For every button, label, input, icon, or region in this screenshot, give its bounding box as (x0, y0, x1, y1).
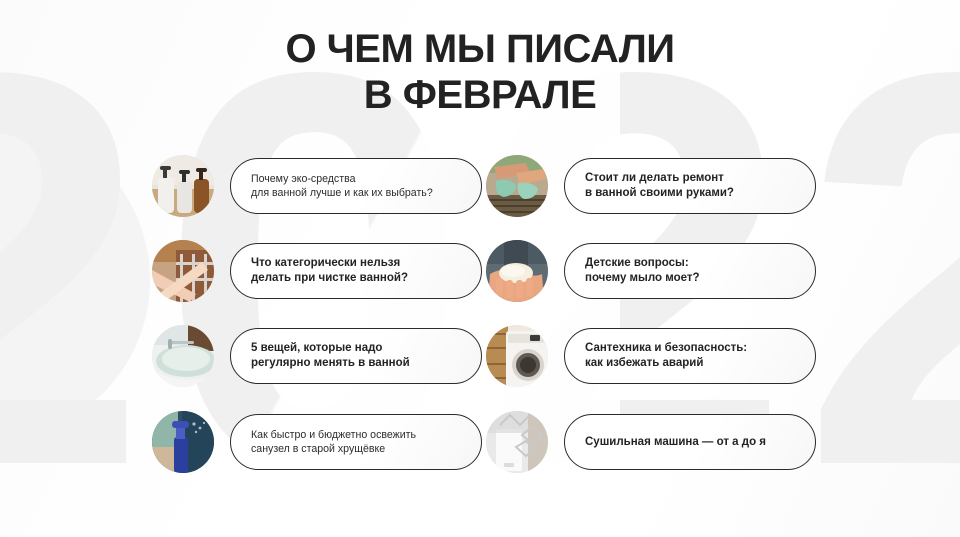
title-line-2: В ФЕВРАЛЕ (0, 72, 960, 118)
list-item[interactable]: Сантехника и безопасность: как избежать … (486, 313, 816, 398)
list-item[interactable]: Что категорически нельзя делать при чист… (152, 228, 482, 313)
topic-pill[interactable]: Как быстро и бюджетно освежить санузел в… (230, 414, 482, 470)
green-gloves-photo (486, 155, 548, 217)
list-item[interactable]: Почему эко-средства для ванной лучше и к… (152, 143, 482, 228)
topic-label: Что категорически нельзя делать при чист… (251, 256, 408, 286)
spray-bottle-photo (152, 411, 214, 473)
title-line-1: О ЧЕМ МЫ ПИСАЛИ (0, 26, 960, 72)
topic-label: Сантехника и безопасность: как избежать … (585, 341, 747, 371)
topic-pill[interactable]: Сантехника и безопасность: как избежать … (564, 328, 816, 384)
topic-column-left: Почему эко-средства для ванной лучше и к… (152, 143, 482, 503)
poster-canvas: 2022 О ЧЕМ МЫ ПИСАЛИ В ФЕВРАЛЕ (0, 0, 960, 537)
topic-pill[interactable]: Детские вопросы: почему мыло моет? (564, 243, 816, 299)
topic-pill[interactable]: Стоит ли делать ремонт в ванной своими р… (564, 158, 816, 214)
list-item[interactable]: Стоит ли делать ремонт в ванной своими р… (486, 143, 816, 228)
drying-rack-photo (486, 411, 548, 473)
topic-label: Сушильная машина — от а до я (585, 435, 766, 450)
topic-label: Стоит ли делать ремонт в ванной своими р… (585, 171, 734, 201)
bathtub-sink-photo (152, 325, 214, 387)
topic-label: Как быстро и бюджетно освежить санузел в… (251, 428, 416, 456)
washing-machine-photo (486, 325, 548, 387)
topic-label: 5 вещей, которые надо регулярно менять в… (251, 341, 410, 371)
topic-pill[interactable]: Что категорически нельзя делать при чист… (230, 243, 482, 299)
topic-pill[interactable]: Сушильная машина — от а до я (564, 414, 816, 470)
topic-pill[interactable]: 5 вещей, которые надо регулярно менять в… (230, 328, 482, 384)
hands-crossed-photo (152, 240, 214, 302)
topic-column-right: Стоит ли делать ремонт в ванной своими р… (486, 143, 816, 503)
topic-label: Почему эко-средства для ванной лучше и к… (251, 172, 433, 200)
topic-pill[interactable]: Почему эко-средства для ванной лучше и к… (230, 158, 482, 214)
page-title: О ЧЕМ МЫ ПИСАЛИ В ФЕВРАЛЕ (0, 26, 960, 118)
list-item[interactable]: Как быстро и бюджетно освежить санузел в… (152, 398, 482, 486)
soap-dispensers-photo (152, 155, 214, 217)
topic-columns: Почему эко-средства для ванной лучше и к… (0, 143, 960, 503)
topic-label: Детские вопросы: почему мыло моет? (585, 256, 700, 286)
list-item[interactable]: Сушильная машина — от а до я (486, 398, 816, 486)
list-item[interactable]: 5 вещей, которые надо регулярно менять в… (152, 313, 482, 398)
list-item[interactable]: Детские вопросы: почему мыло моет? (486, 228, 816, 313)
soap-bar-hands-photo (486, 240, 548, 302)
